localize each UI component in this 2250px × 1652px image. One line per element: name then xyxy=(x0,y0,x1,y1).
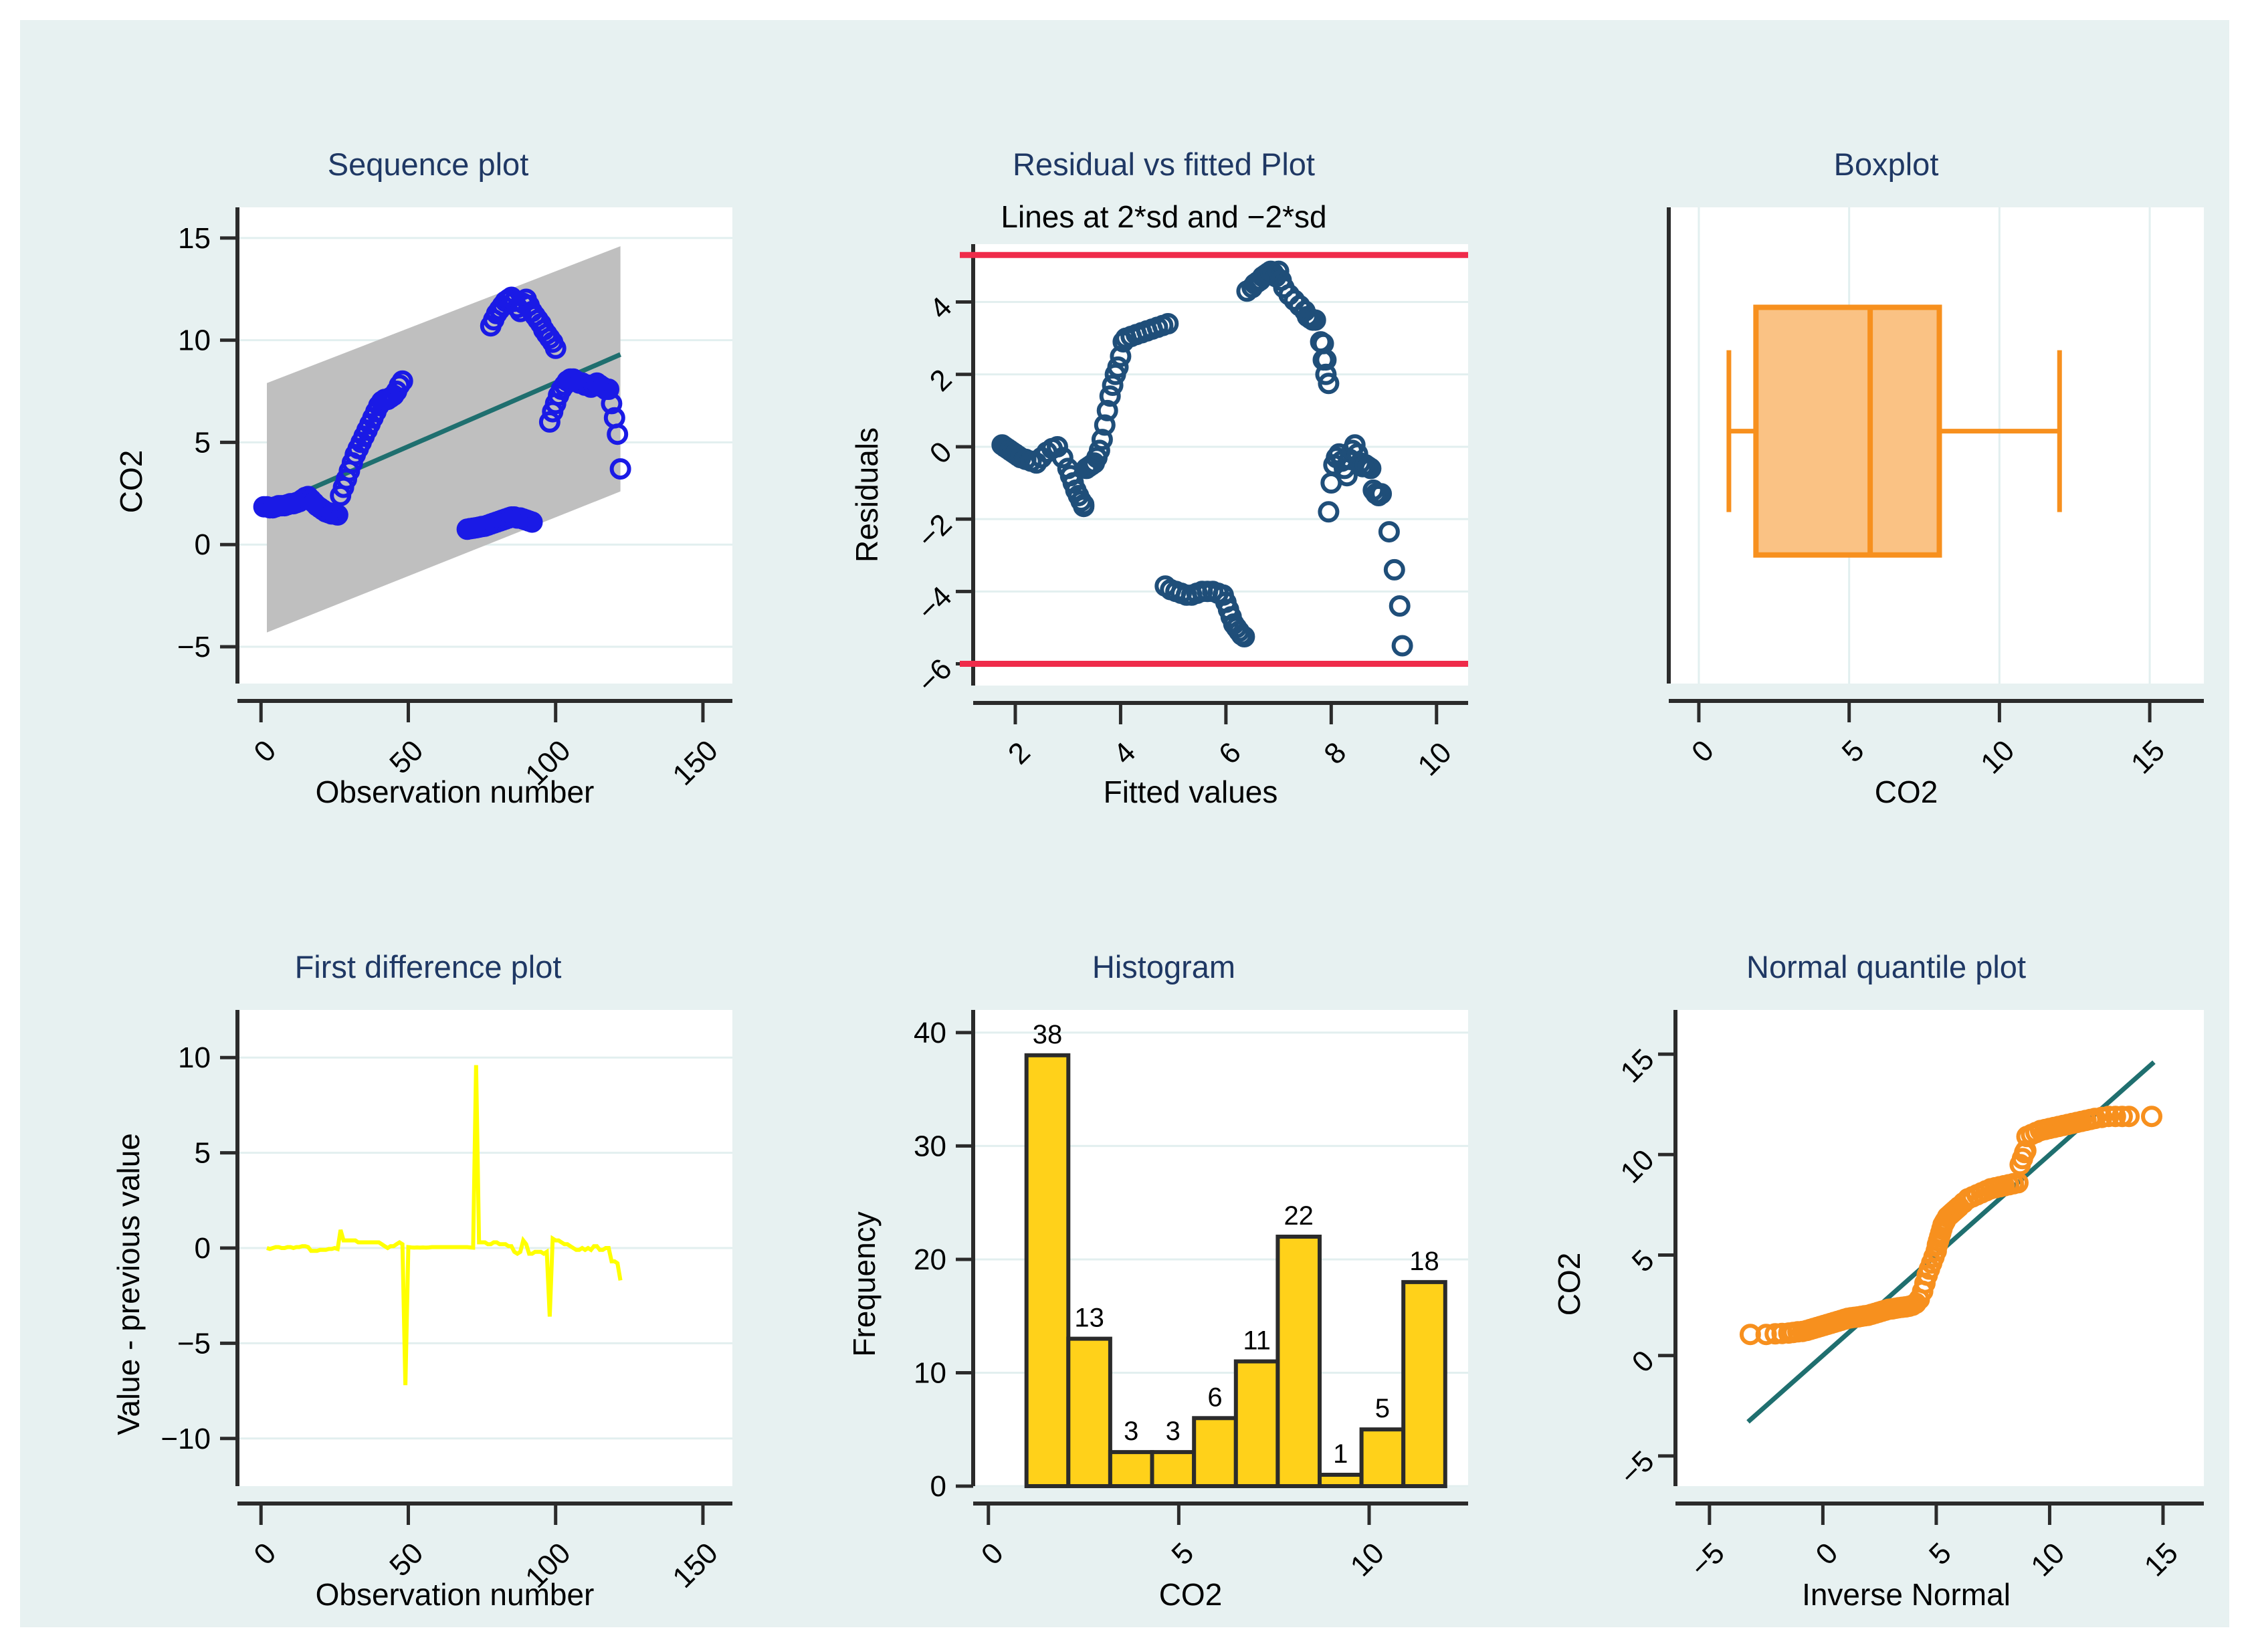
histogram-bar-label: 3 xyxy=(1124,1417,1138,1446)
x-tick-label: 15 xyxy=(2125,734,2171,780)
x-tick-label: 5 xyxy=(1923,1536,1958,1571)
x-tick-label: 150 xyxy=(666,734,724,792)
x-tick-label: 50 xyxy=(383,1536,429,1582)
y-tick-label: 0 xyxy=(930,1470,946,1503)
y-tick-label: 30 xyxy=(914,1130,946,1162)
firstdiff-body: −10−50510050100150 xyxy=(161,1010,732,1594)
x-tick-label: 5 xyxy=(1165,1536,1200,1571)
y-tick-label: 5 xyxy=(1626,1244,1661,1279)
histogram-bar xyxy=(1194,1418,1236,1486)
residual-plot-body: −6−4−2024246810 xyxy=(912,244,1468,783)
firstdiff-ylabel: Value - previous value xyxy=(111,1133,146,1435)
qq-body: −5051015−5051015 xyxy=(1614,1010,2204,1583)
y-tick-label: 4 xyxy=(924,291,958,326)
histogram-bar xyxy=(1236,1362,1278,1487)
x-tick-label: 0 xyxy=(247,1536,282,1571)
y-tick-label: 5 xyxy=(195,426,211,459)
qq-ylabel: CO2 xyxy=(1552,1253,1587,1316)
histogram-bar xyxy=(1110,1452,1152,1486)
sequence-plot-body: −5051015050100150 xyxy=(177,207,732,792)
panel-histogram: Histogram 0102030400510381333611221518 C… xyxy=(829,936,1498,1632)
y-tick-label: 10 xyxy=(178,1041,211,1074)
x-tick-label: 150 xyxy=(666,1536,724,1594)
histogram-bar-label: 5 xyxy=(1375,1394,1390,1423)
x-tick-label: 0 xyxy=(1685,734,1720,768)
y-tick-label: 0 xyxy=(1626,1344,1661,1379)
panel-first-difference-plot: First difference plot −10−50510050100150… xyxy=(94,936,762,1632)
firstdiff-title: First difference plot xyxy=(295,949,562,985)
y-tick-label: 15 xyxy=(178,222,211,255)
qq-xlabel: Inverse Normal xyxy=(1802,1577,2011,1612)
y-tick-label: 0 xyxy=(195,1232,211,1265)
y-tick-label: 40 xyxy=(914,1017,946,1049)
histogram-bar xyxy=(1403,1282,1445,1486)
y-tick-label: 10 xyxy=(1614,1143,1660,1189)
y-tick-label: −5 xyxy=(177,1327,211,1360)
y-tick-label: 0 xyxy=(924,435,958,470)
histogram-body: 0102030400510381333611221518 xyxy=(914,1010,1468,1583)
histogram-bar xyxy=(1068,1339,1110,1486)
histogram-bar-label: 13 xyxy=(1074,1304,1104,1333)
figure-canvas: Sequence plot −5051015050100150 Observat… xyxy=(0,0,2250,1652)
y-tick-label: 10 xyxy=(178,324,211,357)
y-tick-label: −2 xyxy=(912,508,958,554)
residual-plot-title: Residual vs fitted Plot xyxy=(1013,146,1315,182)
y-tick-label: −5 xyxy=(1614,1445,1661,1491)
y-tick-label: −6 xyxy=(912,653,958,700)
x-tick-label: 10 xyxy=(1411,736,1457,782)
panel-normal-quantile-plot: Normal quantile plot −5051015−5051015 In… xyxy=(1532,936,2227,1632)
sequence-plot-xlabel: Observation number xyxy=(316,775,595,809)
y-tick-label: 5 xyxy=(195,1137,211,1170)
y-tick-label: −10 xyxy=(161,1423,211,1455)
residual-plot-subtitle: Lines at 2*sd and −2*sd xyxy=(1001,199,1326,234)
y-tick-label: 0 xyxy=(195,528,211,561)
panel-sequence-plot: Sequence plot −5051015050100150 Observat… xyxy=(94,134,762,829)
x-tick-label: 8 xyxy=(1318,736,1352,770)
histogram-xlabel: CO2 xyxy=(1159,1577,1223,1612)
x-tick-label: 50 xyxy=(383,734,429,780)
histogram-bar xyxy=(1027,1055,1069,1486)
histogram-ylabel: Frequency xyxy=(847,1211,882,1356)
qq-title: Normal quantile plot xyxy=(1746,949,2026,985)
x-tick-label: 0 xyxy=(1809,1536,1844,1571)
residual-plot-xlabel: Fitted values xyxy=(1104,775,1278,809)
histogram-bar-label: 38 xyxy=(1033,1020,1063,1049)
sequence-plot-ylabel: CO2 xyxy=(114,450,148,514)
x-tick-label: 10 xyxy=(1974,734,2021,780)
boxplot-body: 051015 xyxy=(1669,207,2204,781)
boxplot-title: Boxplot xyxy=(1834,146,1939,182)
y-tick-label: 20 xyxy=(914,1243,946,1276)
x-tick-label: 2 xyxy=(1002,736,1037,770)
y-tick-label: −4 xyxy=(912,580,958,627)
x-tick-label: 10 xyxy=(2025,1536,2071,1582)
y-tick-label: 2 xyxy=(924,363,958,398)
x-tick-label: 0 xyxy=(247,734,282,768)
histogram-bar xyxy=(1362,1429,1404,1486)
x-tick-label: 0 xyxy=(975,1536,1010,1571)
panel-residual-vs-fitted-plot: Residual vs fitted Plot −6−4−2024246810 … xyxy=(829,134,1498,829)
y-tick-label: 10 xyxy=(914,1356,946,1389)
x-tick-label: 4 xyxy=(1107,736,1142,770)
x-tick-label: 10 xyxy=(1344,1536,1391,1582)
histogram-bar-label: 6 xyxy=(1207,1382,1222,1412)
sequence-plot-title: Sequence plot xyxy=(328,146,529,182)
y-tick-label: −5 xyxy=(177,631,211,663)
x-tick-label: 6 xyxy=(1213,736,1247,770)
histogram-title: Histogram xyxy=(1092,949,1235,985)
histogram-bar xyxy=(1277,1237,1320,1486)
firstdiff-xlabel: Observation number xyxy=(316,1577,595,1612)
x-tick-label: −5 xyxy=(1684,1536,1731,1583)
residual-plot-ylabel: Residuals xyxy=(849,427,884,562)
histogram-bar-label: 1 xyxy=(1333,1439,1348,1469)
histogram-bar-label: 22 xyxy=(1284,1201,1314,1231)
histogram-bar xyxy=(1152,1452,1195,1486)
histogram-bar-label: 11 xyxy=(1243,1326,1271,1356)
histogram-bar-label: 18 xyxy=(1409,1247,1439,1276)
y-tick-label: 15 xyxy=(1614,1043,1660,1089)
histogram-bar xyxy=(1320,1475,1362,1486)
boxplot-box xyxy=(1756,308,1939,555)
histogram-bar-label: 3 xyxy=(1166,1417,1181,1446)
boxplot-xlabel: CO2 xyxy=(1875,775,1938,809)
x-tick-label: 15 xyxy=(2138,1536,2184,1582)
x-tick-label: 5 xyxy=(1836,734,1871,768)
panel-boxplot: Boxplot 051015 CO2 xyxy=(1532,134,2227,829)
